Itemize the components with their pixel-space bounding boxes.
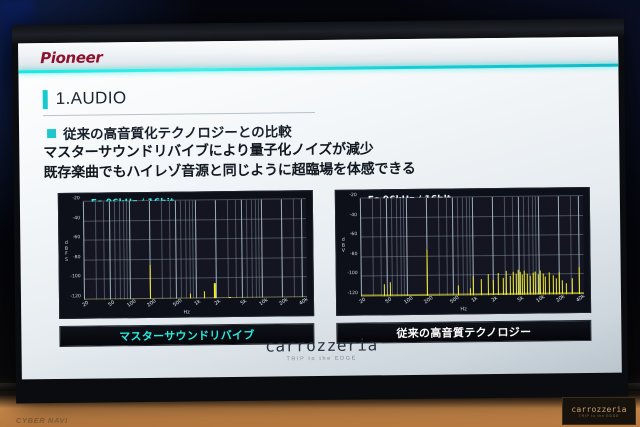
grid-line-major bbox=[281, 199, 283, 297]
grid-line-major bbox=[406, 198, 408, 296]
grid-line-vertical bbox=[94, 202, 96, 300]
x-axis-label-right: Hz bbox=[337, 305, 590, 314]
x-axis-tick: 50 bbox=[108, 300, 117, 309]
spectrum-peak bbox=[515, 274, 516, 295]
grid-line-vertical bbox=[469, 197, 471, 295]
title-text: 1.AUDIO bbox=[56, 88, 127, 109]
y-axis-tick: -100 bbox=[347, 271, 357, 276]
x-axis-label-left: Hz bbox=[60, 308, 313, 317]
grid-line-vertical bbox=[371, 198, 373, 296]
spectrum-peak bbox=[543, 274, 544, 295]
y-axis-tick: -120 bbox=[70, 294, 80, 299]
spectrum-peak bbox=[473, 277, 474, 296]
spectrum-chart-left: Fs 96kHz / 16bit dBFS Hz -20-40-60-80-10… bbox=[58, 190, 314, 319]
grid-line-vertical bbox=[503, 197, 505, 295]
grid-line-vertical bbox=[246, 200, 248, 298]
grid-line-vertical bbox=[457, 197, 459, 295]
page-title: 1.AUDIO bbox=[43, 88, 127, 109]
x-axis-tick: 2k bbox=[490, 295, 498, 303]
spectrum-peak bbox=[498, 273, 499, 295]
grid-line-vertical bbox=[380, 198, 382, 296]
x-axis-tick: 100 bbox=[403, 295, 414, 305]
spectrum-peak bbox=[538, 275, 539, 295]
corner-label-cybernavi: CYBER NAVI bbox=[16, 416, 68, 425]
x-axis-tick: 5k bbox=[240, 298, 248, 306]
corner-badge-logo: carrozzeria bbox=[571, 405, 626, 414]
spectrum-peak bbox=[229, 297, 230, 298]
x-axis-tick: 20 bbox=[81, 300, 90, 309]
grid-line-vertical bbox=[126, 201, 128, 299]
grid-line-vertical bbox=[119, 201, 121, 299]
grid-line-vertical bbox=[403, 198, 405, 296]
spectrum-peak bbox=[510, 276, 511, 295]
spectrum-chart-right: Fs 96kHz / 16blt dBV Hz -20-40-60-80-100… bbox=[335, 187, 591, 316]
spectrum-peak bbox=[522, 275, 523, 295]
x-axis-tick: 20 bbox=[358, 297, 367, 306]
spectrum-peak bbox=[556, 279, 557, 295]
grid-line-vertical bbox=[462, 197, 464, 295]
x-axis-tick: 40k bbox=[575, 293, 586, 303]
spectrum-peak bbox=[150, 265, 151, 299]
y-axis-tick: -80 bbox=[73, 255, 81, 260]
grid-line-major bbox=[360, 199, 362, 297]
x-axis-tick: 200 bbox=[146, 298, 157, 308]
presentation-slide: Pioneer 1.AUDIO 従来の高音質化テクノロジーとの比較 マスターサウ… bbox=[18, 37, 622, 380]
x-axis-tick: 1k bbox=[194, 299, 202, 307]
slide-header-bar: Pioneer bbox=[18, 37, 618, 74]
y-axis-tick: -40 bbox=[73, 216, 81, 221]
y-axis-tick: -60 bbox=[350, 232, 358, 237]
x-axis-tick: 5k bbox=[517, 295, 525, 303]
spectrum-peak bbox=[566, 283, 567, 294]
grid-line-vertical bbox=[169, 201, 171, 299]
chart-panel-left: Fs 96kHz / 16bit dBFS Hz -20-40-60-80-10… bbox=[58, 190, 315, 347]
corner-badge-tagline: TRIP to the EDGE bbox=[579, 414, 619, 418]
comparison-panels: Fs 96kHz / 16bit dBFS Hz -20-40-60-80-10… bbox=[58, 187, 592, 347]
grid-line-major bbox=[175, 201, 177, 299]
spectrum-peak bbox=[458, 286, 459, 296]
x-axis-tick: 500 bbox=[172, 298, 183, 308]
y-axis-tick: -120 bbox=[347, 291, 357, 296]
title-divider bbox=[43, 112, 315, 116]
chart-panel-right: Fs 96kHz / 16blt dBV Hz -20-40-60-80-100… bbox=[335, 187, 592, 344]
spectrum-peak bbox=[572, 278, 573, 294]
grid-line-vertical bbox=[251, 200, 253, 298]
spectrum-peak bbox=[203, 291, 204, 298]
grid-line-vertical bbox=[185, 201, 187, 299]
grid-line-vertical bbox=[255, 200, 257, 298]
x-axis-tick: 10k bbox=[535, 294, 546, 304]
grid-line-major bbox=[386, 198, 388, 296]
spectrum-peak bbox=[384, 285, 385, 297]
body-line-2: 既存楽曲でもハイレゾ音源と同じように超臨場を体感できる bbox=[43, 158, 415, 182]
grid-line-vertical bbox=[466, 197, 468, 295]
spectrum-peak bbox=[470, 288, 471, 295]
plot-area-right: -20-40-60-80-100-12020501002005001k2k5k1… bbox=[360, 196, 584, 297]
footer-brand: carrozzeria TRIP to the EDGE bbox=[21, 333, 621, 366]
spectrum-peak bbox=[520, 272, 521, 295]
grid-line-vertical bbox=[400, 198, 402, 296]
grid-line-vertical bbox=[396, 198, 398, 296]
grid-line-vertical bbox=[226, 200, 228, 298]
grid-line-major bbox=[129, 201, 131, 299]
x-axis-tick: 10k bbox=[258, 297, 269, 307]
corner-badge-carrozzeria: carrozzeria TRIP to the EDGE bbox=[562, 397, 636, 425]
x-axis-tick: 2k bbox=[213, 298, 221, 306]
x-axis-tick: 20k bbox=[555, 294, 566, 304]
projection-screen: Pioneer 1.AUDIO 従来の高音質化テクノロジーとの比較 マスターサウ… bbox=[12, 19, 628, 404]
spectrum-peak bbox=[548, 273, 549, 295]
spectrum-peak bbox=[502, 278, 503, 295]
spectrum-peak bbox=[480, 280, 481, 296]
grid-line-major bbox=[452, 197, 454, 295]
spectrum-peak bbox=[552, 276, 553, 295]
grid-line-major bbox=[109, 201, 111, 299]
y-axis-tick: -100 bbox=[70, 275, 80, 280]
grid-line-vertical bbox=[446, 198, 448, 296]
grid-line-major bbox=[83, 202, 85, 300]
grid-line-vertical bbox=[192, 200, 194, 298]
x-axis-tick: 200 bbox=[423, 295, 434, 305]
x-axis-tick: 100 bbox=[126, 298, 137, 308]
x-axis-tick: 20k bbox=[278, 297, 289, 307]
grid-line-vertical bbox=[292, 199, 294, 297]
spectrum-peak bbox=[493, 280, 494, 295]
grid-line-major bbox=[261, 200, 263, 298]
spectrum-peak bbox=[488, 275, 489, 296]
grid-line-vertical bbox=[123, 201, 125, 299]
grid-line-vertical bbox=[180, 201, 182, 299]
spectrum-peak bbox=[545, 277, 546, 295]
y-axis-tick: -80 bbox=[350, 252, 358, 257]
grid-line-major bbox=[301, 199, 303, 297]
grid-line-vertical bbox=[391, 198, 393, 296]
grid-line-vertical bbox=[103, 201, 105, 299]
plot-area-left: -20-40-60-80-100-12020501002005001k2k5k1… bbox=[83, 199, 307, 300]
screen-lens-flare bbox=[138, 39, 438, 60]
x-axis-tick: 500 bbox=[449, 295, 460, 305]
y-axis-tick: -20 bbox=[72, 196, 80, 201]
grid-line-major bbox=[241, 200, 243, 298]
grid-line-vertical bbox=[160, 201, 162, 299]
spectrum-peak bbox=[529, 276, 530, 295]
grid-line-vertical bbox=[189, 200, 191, 298]
grid-line-vertical bbox=[114, 201, 116, 299]
spectrum-peak bbox=[390, 282, 391, 296]
y-axis-label-right: dBV bbox=[339, 238, 347, 255]
bullet-square-icon bbox=[47, 128, 56, 137]
y-axis-label-left: dBFS bbox=[62, 241, 70, 263]
grid-line-vertical bbox=[437, 198, 439, 296]
y-axis-tick: -20 bbox=[349, 193, 357, 198]
pioneer-logo: Pioneer bbox=[40, 48, 102, 67]
grid-line-major bbox=[195, 200, 197, 298]
y-axis-tick: -40 bbox=[350, 213, 358, 218]
x-axis-tick: 50 bbox=[385, 296, 394, 305]
y-axis-tick: -60 bbox=[73, 235, 81, 240]
grid-line-vertical bbox=[235, 200, 237, 298]
title-accent-bar bbox=[43, 90, 48, 109]
x-axis-tick: 40k bbox=[298, 297, 309, 307]
spectrum-peak bbox=[190, 294, 191, 299]
spectrum-peak bbox=[214, 284, 215, 299]
x-axis-tick: 1k bbox=[471, 296, 479, 304]
grid-line-vertical bbox=[258, 200, 260, 298]
spectrum-peak bbox=[561, 281, 562, 295]
